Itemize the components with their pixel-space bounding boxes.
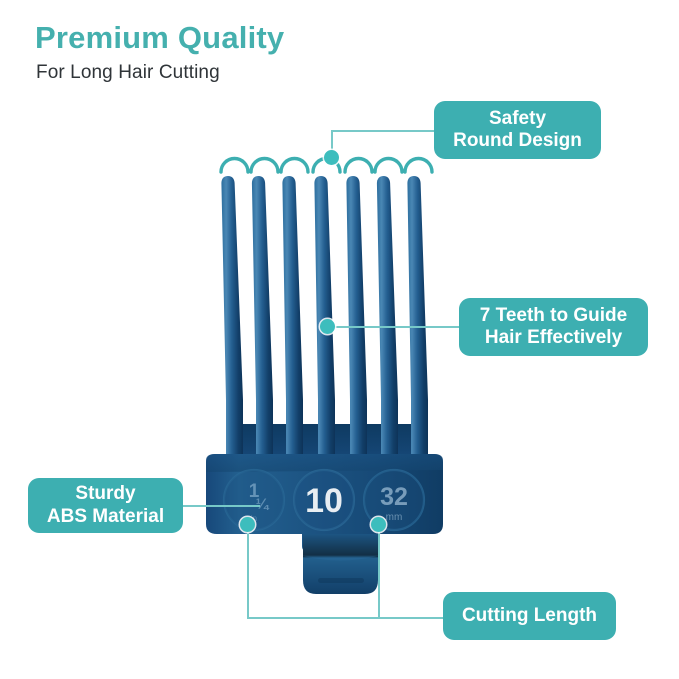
svg-text:32: 32 [380,483,408,511]
svg-text:10: 10 [305,482,343,520]
connector-teeth-horizontal [327,326,460,328]
marking-circle-center: 10 [294,470,354,530]
callout-sturdy-abs-material[interactable]: Sturdy ABS Material [28,478,183,533]
callout-teeth-label: 7 Teeth to Guide Hair Effectively [480,305,627,350]
connector-length-vertical-right [378,524,380,618]
comb-attachment-tab [303,534,378,594]
anchor-dot-teeth [320,319,335,334]
callout-safety-round-design[interactable]: Safety Round Design [434,101,601,159]
connector-abs-horizontal [182,505,260,507]
svg-text:mm: mm [386,512,403,523]
connector-safety-horizontal [331,130,435,132]
callout-safety-label: Safety Round Design [453,108,582,153]
callout-cutting-length[interactable]: Cutting Length [443,592,616,640]
callout-seven-teeth[interactable]: 7 Teeth to Guide Hair Effectively [459,298,648,356]
callout-abs-label: Sturdy ABS Material [47,483,164,528]
connector-length-horizontal [247,617,445,619]
infographic-canvas: Premium Quality For Long Hair Cutting [0,0,679,679]
connector-length-vertical-left [247,524,249,618]
anchor-dot-safety [324,150,339,165]
callout-length-label: Cutting Length [462,605,597,627]
anchor-dot-abs [240,517,255,532]
anchor-dot-length-right [371,517,386,532]
